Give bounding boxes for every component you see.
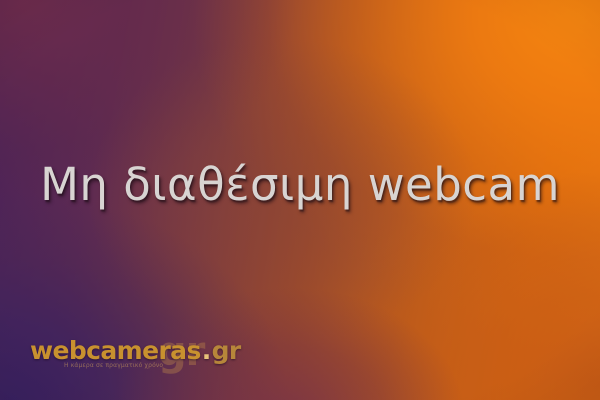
site-watermark: gr webcameras.gr Η κάμερα σε πραγματικό … bbox=[30, 338, 220, 378]
webcam-placeholder-screen: Μη διαθέσιμη webcam gr webcameras.gr Η κ… bbox=[0, 0, 600, 400]
watermark-tld: gr bbox=[212, 338, 241, 363]
watermark-brand: webcameras bbox=[30, 336, 201, 365]
watermark-tagline: Η κάμερα σε πραγματικό χρόνο bbox=[64, 363, 163, 369]
unavailable-message: Μη διαθέσιμη webcam bbox=[0, 158, 600, 211]
watermark-dot: . bbox=[201, 338, 212, 363]
watermark-wordmark: webcameras.gr bbox=[30, 338, 241, 363]
